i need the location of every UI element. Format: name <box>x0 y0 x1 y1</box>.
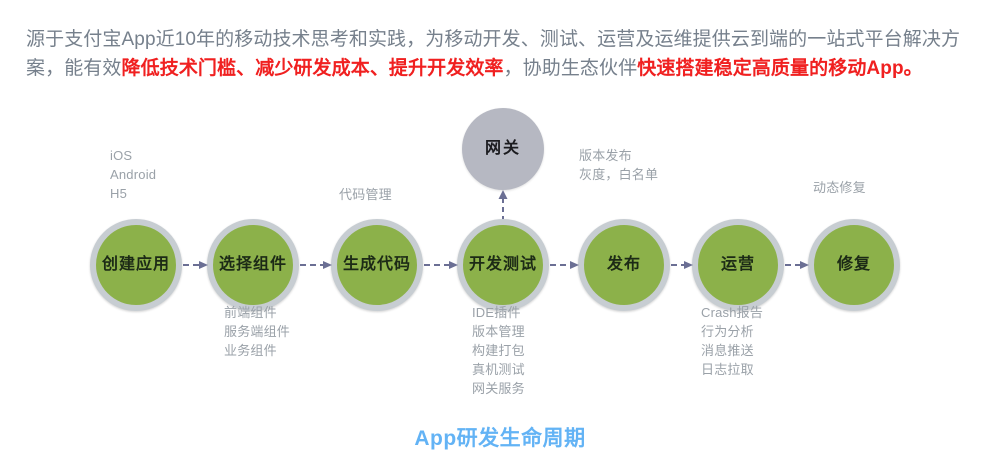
diagram-node-release-label: 发布 <box>607 256 641 274</box>
diagram-node-select-parts[interactable]: 选择组件 <box>207 219 299 311</box>
app-lifecycle-diagram: iOS Android H5 代码管理 版本发布 灰度，白名单 动态修复 网关 … <box>0 100 1000 464</box>
intro-paragraph: 源于支付宝App近10年的移动技术思考和实践，为移动开发、测试、运营及运维提供云… <box>26 25 978 83</box>
diagram-node-select-parts-label: 选择组件 <box>219 256 287 274</box>
diagram-node-create-app[interactable]: 创建应用 <box>90 219 182 311</box>
intro-text-plain-2: ，协助生态伙伴 <box>504 58 638 79</box>
caption-devtest-list: IDE插件 版本管理 构建打包 真机测试 网关服务 <box>472 303 525 398</box>
diagram-node-gen-code[interactable]: 生成代码 <box>331 219 423 311</box>
intro-text-highlight-2: 快速搭建稳定高质量的移动App。 <box>637 58 923 79</box>
diagram-node-gateway-label: 网关 <box>485 140 521 158</box>
diagram-node-operate[interactable]: 运营 <box>692 219 784 311</box>
diagram-node-repair-label: 修复 <box>837 256 871 274</box>
connector-select-to-gen <box>300 260 332 270</box>
caption-version-release: 版本发布 灰度，白名单 <box>579 146 658 184</box>
diagram-node-release[interactable]: 发布 <box>578 219 670 311</box>
caption-component-list: 前端组件 服务端组件 业务组件 <box>224 303 290 360</box>
connector-devtest-to-release <box>550 260 579 270</box>
connector-release-to-operate <box>671 260 693 270</box>
intro-text-highlight-1: 降低技术门槛、减少研发成本、提升开发效率 <box>122 58 504 79</box>
caption-operate-list: Crash报告 行为分析 消息推送 日志拉取 <box>701 303 763 379</box>
diagram-node-repair[interactable]: 修复 <box>808 219 900 311</box>
caption-code-manage: 代码管理 <box>339 185 392 204</box>
caption-platforms: iOS Android H5 <box>110 146 156 203</box>
connector-create-to-select <box>183 260 208 270</box>
connector-gen-to-devtest <box>424 260 458 270</box>
connector-operate-to-repair <box>785 260 809 270</box>
diagram-node-create-app-label: 创建应用 <box>102 256 170 274</box>
diagram-title: App研发生命周期 <box>0 422 1000 452</box>
diagram-node-gateway[interactable]: 网关 <box>462 108 544 190</box>
diagram-node-operate-label: 运营 <box>721 256 755 274</box>
diagram-node-dev-test-label: 开发测试 <box>469 256 537 274</box>
caption-hotfix: 动态修复 <box>813 178 866 197</box>
diagram-node-gen-code-label: 生成代码 <box>343 256 411 274</box>
diagram-node-dev-test[interactable]: 开发测试 <box>457 219 549 311</box>
